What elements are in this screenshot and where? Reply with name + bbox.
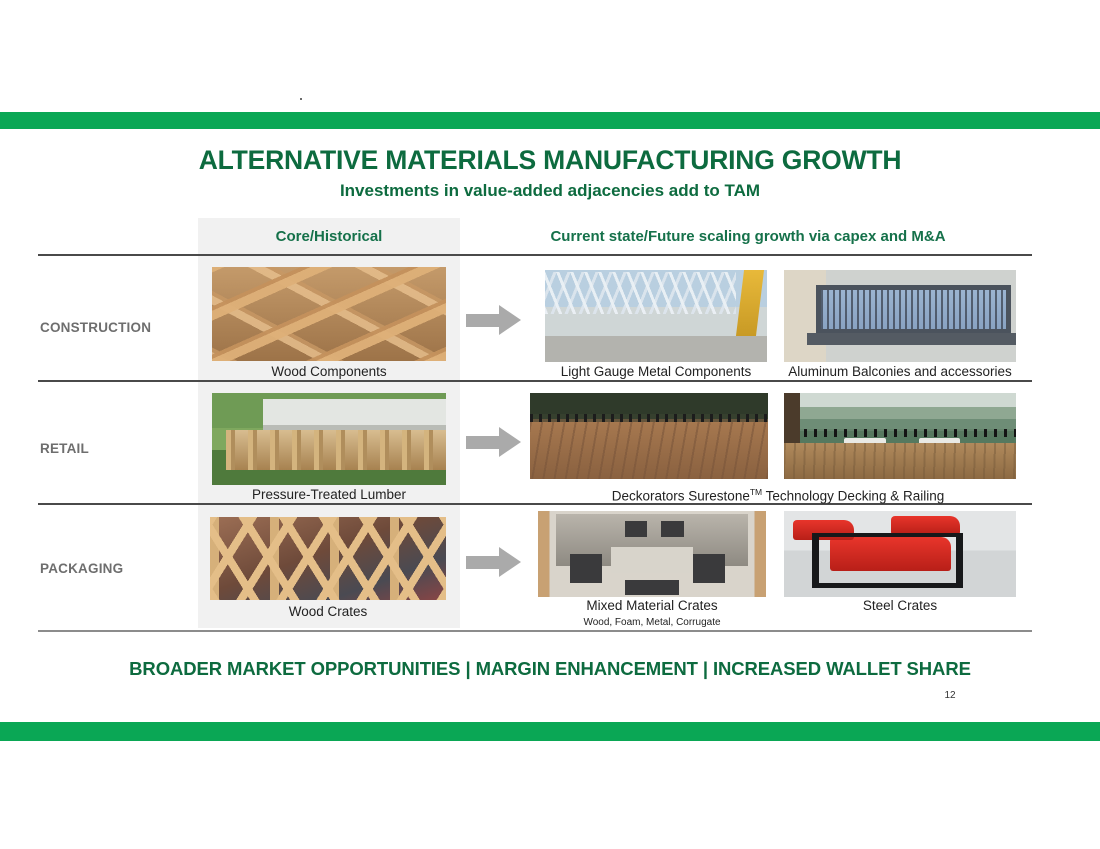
column-header-core: Core/Historical (198, 228, 460, 245)
arrow-head (499, 427, 521, 457)
aluminum-balcony-photo (784, 270, 1016, 362)
foam-block (570, 554, 602, 583)
image-mountain-deck-chairs (784, 393, 1016, 479)
foam-block (625, 580, 680, 595)
page-title: ALTERNATIVE MATERIALS MANUFACTURING GROW… (0, 145, 1100, 176)
arrow-shaft (466, 436, 500, 449)
trademark-symbol: TM (750, 487, 762, 497)
image-steel-crates (784, 511, 1016, 597)
caption-pressure-treated-lumber: Pressure-Treated Lumber (212, 487, 446, 502)
image-light-gauge-metal (545, 270, 767, 362)
footer-tagline: BROADER MARKET OPPORTUNITIES | MARGIN EN… (0, 658, 1100, 680)
caption-text-rest: Technology Decking & Railing (762, 489, 944, 504)
wood-truss-photo (212, 267, 446, 361)
wood-crates-photo (210, 517, 446, 600)
foam-block (693, 554, 725, 583)
caption-text-main: Deckorators Surestone (612, 489, 750, 504)
caption-light-gauge-metal: Light Gauge Metal Components (528, 364, 784, 379)
red-tractor (830, 537, 951, 571)
patio-chair (616, 431, 659, 448)
right-arrow-icon-retail (466, 427, 521, 457)
machinery-base (611, 547, 693, 573)
steel-crate-tractors-photo (784, 511, 1016, 597)
red-tractor (891, 516, 961, 535)
caption-aluminum-balconies: Aluminum Balconies and accessories (772, 364, 1028, 379)
foam-block (661, 521, 684, 536)
patio-table (601, 446, 663, 460)
pressure-treated-deck-photo (212, 393, 446, 485)
adirondack-chair (844, 438, 886, 464)
foam-block (625, 521, 648, 536)
image-pressure-treated-lumber (212, 393, 446, 485)
patio-chair (678, 440, 723, 460)
light-gauge-metal-building-photo (545, 270, 767, 362)
column-header-current: Current state/Future scaling growth via … (460, 228, 1036, 245)
mixed-material-crate-photo (538, 511, 766, 597)
arrow-head (499, 305, 521, 335)
stray-artifact-dot (300, 98, 302, 100)
image-wood-crates (210, 517, 446, 600)
arrow-shaft (466, 556, 500, 569)
page-number: 12 (930, 690, 970, 701)
caption-steel-crates: Steel Crates (784, 598, 1016, 613)
adirondack-chair (919, 438, 961, 464)
row-label-retail: RETAIL (40, 441, 190, 456)
steel-frame-bar (956, 533, 963, 586)
page-subtitle: Investments in value-added adjacencies a… (0, 181, 1100, 201)
caption-deckorators-surestone: Deckorators SurestoneTM Technology Decki… (528, 487, 1028, 504)
arrow-shaft (466, 314, 500, 327)
steel-frame-bar (812, 533, 819, 586)
divider-header (38, 254, 1032, 256)
image-aluminum-balconies (784, 270, 1016, 362)
caption-wood-crates: Wood Crates (210, 604, 446, 619)
row-label-packaging: PACKAGING (40, 561, 190, 576)
composite-deck-patio-photo (530, 393, 768, 479)
image-composite-deck-patio (530, 393, 768, 479)
row-label-construction: CONSTRUCTION (40, 320, 190, 335)
caption-wood-components: Wood Components (212, 364, 446, 379)
caption-mixed-material-crates: Mixed Material Crates (538, 598, 766, 613)
divider-construction-retail (38, 380, 1032, 382)
steel-frame-bar (812, 533, 963, 536)
subcaption-mixed-material-crates: Wood, Foam, Metal, Corrugate (538, 617, 766, 628)
image-wood-components (212, 267, 446, 361)
steel-frame-bar (812, 583, 963, 587)
mountain-deck-chairs-photo (784, 393, 1016, 479)
tree-trunk (784, 393, 800, 448)
bottom-brand-bar (0, 722, 1100, 741)
patio-chair (554, 438, 602, 459)
divider-matrix-bottom (38, 630, 1032, 632)
right-arrow-icon-packaging (466, 547, 521, 577)
red-tractor (793, 520, 853, 541)
top-brand-bar (0, 112, 1100, 129)
right-arrow-icon-construction (466, 305, 521, 335)
image-mixed-material-crates (538, 511, 766, 597)
arrow-head (499, 547, 521, 577)
